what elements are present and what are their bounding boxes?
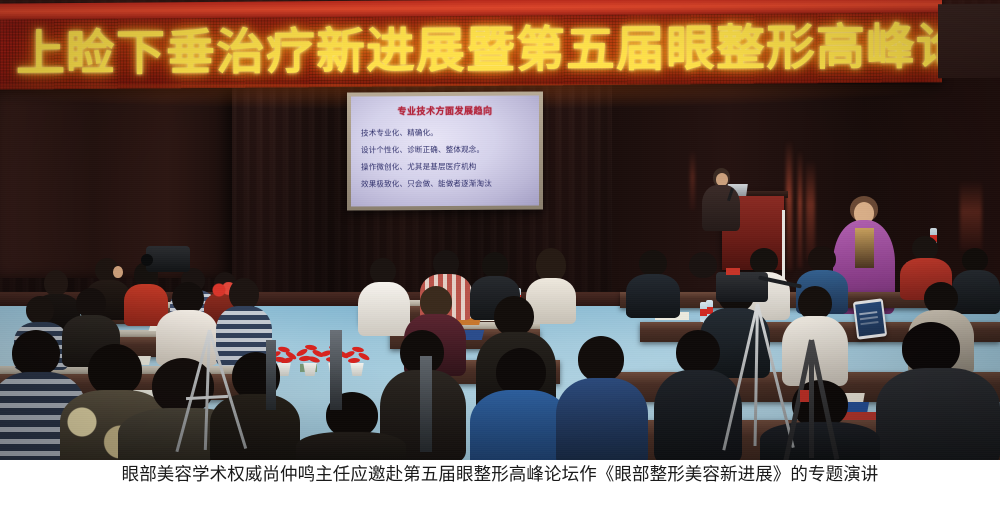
slide-line-3: 操作微创化、尤其是基层医疗机构 bbox=[361, 158, 533, 176]
caption-bar: 眼部美容学术权威尚仲鸣主任应邀赴第五届眼整形高峰论坛作《眼部整形美容新进展》的专… bbox=[0, 460, 1000, 523]
speaker-torso bbox=[702, 185, 740, 231]
projection-screen-surface: 专业技术方面发展趋向 技术专业化、精确化。 设计个性化、诊断正确、整体观念。 操… bbox=[351, 96, 539, 207]
attendee-hair bbox=[76, 288, 106, 318]
attendee-torso-white bbox=[358, 282, 410, 336]
banner-title-text: 上睑下垂治疗新进展暨第五届眼整形高峰论坛 bbox=[16, 14, 942, 88]
attendee-center-8 bbox=[470, 348, 570, 460]
attendee-hair bbox=[750, 248, 778, 274]
attendee-hair bbox=[496, 348, 546, 396]
attendee-hair bbox=[26, 296, 54, 324]
chair-back-3 bbox=[266, 340, 276, 410]
attendee-face bbox=[113, 266, 123, 278]
attendee-hair bbox=[494, 296, 534, 336]
tablet-device bbox=[853, 298, 887, 339]
attendee-hair bbox=[676, 330, 720, 374]
attendee-hair bbox=[370, 258, 396, 284]
attendee-hair bbox=[808, 246, 836, 272]
tripod-right-dark bbox=[776, 340, 842, 460]
attendee-hair bbox=[433, 250, 459, 276]
attendee-hair bbox=[12, 330, 60, 376]
led-banner: 上睑下垂治疗新进展暨第五届眼整形高峰论坛 bbox=[0, 12, 942, 89]
slide-title: 专业技术方面发展趋向 bbox=[351, 104, 539, 118]
attendee-right-10-suit bbox=[876, 322, 1000, 460]
attendee-hair-long bbox=[536, 248, 566, 282]
conference-photo: 上睑下垂治疗新进展暨第五届眼整形高峰论坛 专业技术方面发展趋向 技术专业化、精确… bbox=[0, 0, 1000, 460]
speaker-at-podium bbox=[700, 168, 740, 230]
plant-leaves bbox=[342, 344, 372, 366]
slide-body: 技术专业化、精确化。 设计个性化、诊断正确、整体观念。 操作微创化、尤其是基层医… bbox=[361, 124, 533, 193]
attendee-center-1 bbox=[358, 258, 410, 334]
tripod-leg bbox=[809, 340, 814, 458]
camera-left-lens bbox=[141, 254, 153, 266]
attendee-center-10 bbox=[296, 392, 406, 460]
attendee-hair bbox=[798, 286, 832, 320]
slide-line-1: 技术专业化、精确化。 bbox=[361, 124, 533, 142]
banner-panel: 上睑下垂治疗新进展暨第五届眼整形高峰论坛 bbox=[0, 12, 942, 89]
attendee-suit-jacket bbox=[876, 368, 1000, 460]
attendee-hair bbox=[962, 248, 988, 272]
attendee-center-9 bbox=[556, 336, 648, 460]
attendee-torso bbox=[556, 378, 648, 460]
attendee-torso-blue bbox=[470, 390, 570, 460]
tablet-screen bbox=[855, 302, 885, 337]
camera-red-label bbox=[726, 268, 740, 275]
banner-dark-tail bbox=[938, 4, 1000, 79]
attendee-hair bbox=[689, 252, 717, 278]
slide-line-4: 效果极致化、只会做、能做者逐渐淘汰 bbox=[361, 175, 533, 193]
attendee-hair bbox=[578, 336, 624, 382]
plant-pot bbox=[302, 363, 318, 376]
attendee-torso bbox=[626, 274, 680, 318]
tripod-left bbox=[178, 330, 238, 460]
tripod-leg bbox=[754, 304, 759, 446]
attendee-torso bbox=[296, 432, 406, 460]
chair-back-2 bbox=[420, 356, 432, 452]
attendee-hair bbox=[639, 250, 667, 276]
attendee-right-1 bbox=[626, 250, 680, 316]
plant-2 bbox=[302, 346, 318, 376]
slide-line-2: 设计个性化、诊断正确、整体观念。 bbox=[361, 141, 533, 159]
photo-caption: 眼部美容学术权威尚仲鸣主任应邀赴第五届眼整形高峰论坛作《眼部整形美容新进展》的专… bbox=[122, 462, 879, 488]
screenshot-root: 上睑下垂治疗新进展暨第五届眼整形高峰论坛 专业技术方面发展趋向 技术专业化、精确… bbox=[0, 0, 1000, 523]
plant-pot bbox=[349, 363, 365, 376]
woman-blouse-pattern bbox=[855, 228, 874, 268]
projection-screen: 专业技术方面发展趋向 技术专业化、精确化。 设计个性化、诊断正确、整体观念。 操… bbox=[347, 91, 543, 210]
backdrop-glow-3 bbox=[806, 160, 815, 260]
attendee-hair bbox=[912, 236, 938, 260]
backdrop-glow-4 bbox=[960, 180, 982, 250]
plant-4 bbox=[349, 348, 365, 376]
attendee-hair bbox=[902, 322, 960, 374]
backdrop-glow-5 bbox=[690, 150, 695, 210]
chair-back-1 bbox=[330, 330, 342, 410]
tripod-red-tape bbox=[800, 390, 809, 402]
attendee-hair bbox=[482, 252, 508, 278]
